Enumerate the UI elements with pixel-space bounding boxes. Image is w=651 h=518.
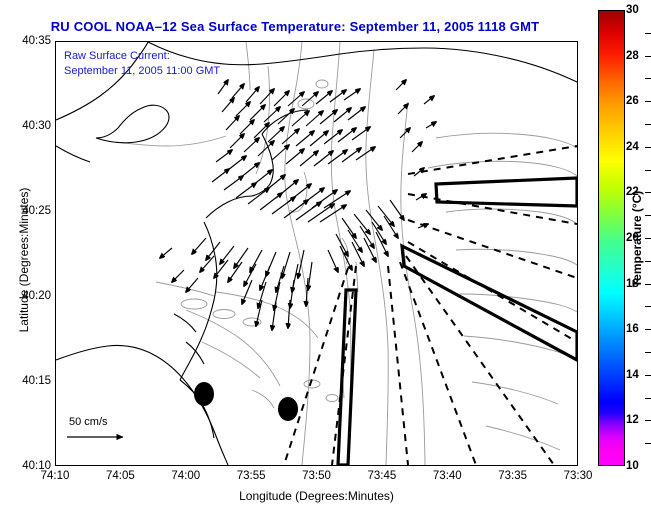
annotation-line-2: September 11, 2005 11:00 GMT: [64, 64, 220, 79]
colorbar-title: Temperature (°C): [630, 159, 644, 319]
scale-legend-label: 50 cm/s: [69, 416, 171, 428]
shipping-lane-corridors: [338, 178, 577, 465]
x-tick-label: 73:40: [433, 470, 462, 482]
radial-guide-lines: [284, 146, 577, 465]
colorbar-tick-label: 10: [626, 460, 639, 472]
map-canvas: [56, 42, 577, 465]
x-axis-title: Longitude (Degrees:Minutes): [55, 489, 578, 503]
colorbar-tick-label: 24: [626, 141, 639, 153]
x-tick-label: 74:10: [41, 470, 70, 482]
colorbar-tick-label: 12: [626, 414, 639, 426]
x-tick-label: 74:00: [171, 470, 200, 482]
sst-figure: RU COOL NOAA–12 Sea Surface Temperature:…: [0, 0, 651, 518]
colorbar-tick-label: 28: [626, 50, 639, 62]
y-tick-label: 40:30: [22, 120, 51, 132]
x-tick-label: 73:30: [564, 470, 593, 482]
y-axis-title: Latitude (Degrees:Minutes): [17, 140, 31, 380]
x-tick-label: 73:50: [302, 470, 331, 482]
annotation-line-1: Raw Surface Current:: [64, 49, 220, 64]
colorbar-tick-label: 14: [626, 369, 639, 381]
coastline: [56, 42, 577, 465]
x-tick-label: 73:55: [237, 470, 266, 482]
colorbar-tick-label: 16: [626, 323, 639, 335]
y-tick-label: 40:35: [22, 35, 51, 47]
colorbar-tick-label: 26: [626, 95, 639, 107]
x-tick-label: 73:45: [368, 470, 397, 482]
map-plot-area: Raw Surface Current: September 11, 2005 …: [55, 41, 578, 466]
station-marker: [278, 397, 298, 421]
x-tick-label: 73:35: [498, 470, 527, 482]
current-annotation: Raw Surface Current: September 11, 2005 …: [64, 49, 220, 79]
station-marker: [194, 382, 214, 406]
right-arrow-icon: [61, 428, 161, 446]
scale-legend: 50 cm/s: [61, 416, 171, 451]
x-axis-ticks: 74:10 74:05 74:00 73:55 73:50 73:45 73:4…: [0, 470, 651, 486]
x-tick-label: 74:05: [106, 470, 135, 482]
colorbar-tick-label: 30: [626, 4, 639, 16]
figure-title: RU COOL NOAA–12 Sea Surface Temperature:…: [0, 19, 590, 34]
station-markers: [194, 382, 298, 421]
